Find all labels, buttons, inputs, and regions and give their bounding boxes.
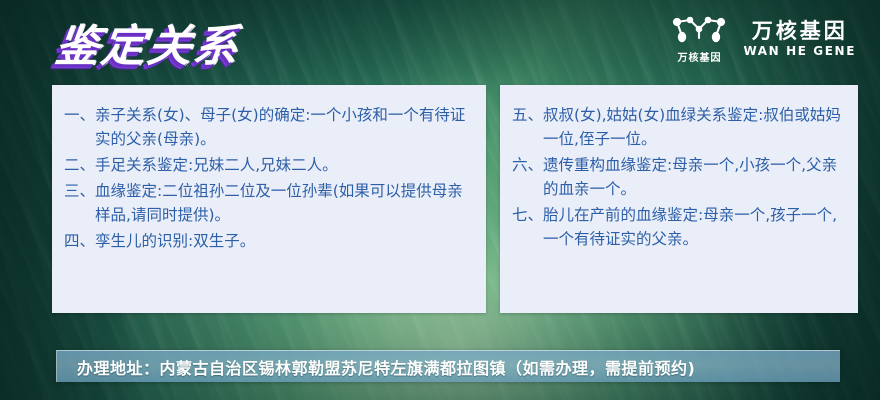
page-title: 鉴定关系 [52, 10, 244, 74]
slide-root: 鉴定关系 [0, 0, 880, 400]
list-item-number: 六、 [512, 153, 543, 177]
list-item-text: 遗传重构血缘鉴定:母亲一个,小孩一个,父亲的血亲一个。 [543, 153, 846, 201]
list-item: 三、 血缘鉴定:二位祖孙二位及一位孙辈(如果可以提供母亲样品,请同时提供)。 [64, 179, 474, 227]
list-item-number: 二、 [64, 153, 95, 177]
brand-name-block: 万核基因 WAN HE GENE [743, 19, 856, 59]
panel-left: 一、 亲子关系(女)、母子(女)的确定:一个小孩和一个有待证实的父亲(母亲)。 … [52, 85, 486, 313]
brand-name-cn: 万核基因 [752, 19, 848, 43]
list-item-text: 亲子关系(女)、母子(女)的确定:一个小孩和一个有待证实的父亲(母亲)。 [95, 103, 474, 151]
list-item-number: 四、 [64, 229, 95, 253]
list-item-text: 手足关系鉴定:兄妹二人,兄妹二人。 [95, 153, 474, 177]
list-item-number: 五、 [512, 103, 543, 127]
list-item-text: 胎儿在产前的血缘鉴定:母亲一个,孩子一个,一个有待证实的父亲。 [543, 203, 846, 251]
brand-mark: 万核基因 [669, 14, 729, 64]
list-item-number: 三、 [64, 179, 95, 203]
brand-mark-label: 万核基因 [677, 49, 721, 64]
brand-lockup: 万核基因 万核基因 WAN HE GENE [669, 14, 856, 64]
panel-right: 五、 叔叔(女),姑姑(女)血绿关系鉴定:叔伯或姑妈一位,侄子一位。 六、 遗传… [500, 85, 858, 313]
list-item-text: 孪生儿的识别:双生子。 [95, 229, 474, 253]
list-item-text: 血缘鉴定:二位祖孙二位及一位孙辈(如果可以提供母亲样品,请同时提供)。 [95, 179, 474, 227]
molecule-node-icon [669, 14, 729, 46]
list-item-number: 一、 [64, 103, 95, 127]
slide-header: 鉴定关系 [0, 0, 880, 86]
content-panels: 一、 亲子关系(女)、母子(女)的确定:一个小孩和一个有待证实的父亲(母亲)。 … [0, 85, 880, 315]
list-item-number: 七、 [512, 203, 543, 227]
list-item: 四、 孪生儿的识别:双生子。 [64, 229, 474, 253]
list-item-text: 叔叔(女),姑姑(女)血绿关系鉴定:叔伯或姑妈一位,侄子一位。 [543, 103, 846, 151]
address-bar: 办理地址：内蒙古自治区锡林郭勒盟苏尼特左旗满都拉图镇（如需办理，需提前预约) [56, 350, 840, 382]
brand-name-en: WAN HE GENE [743, 45, 856, 59]
list-item: 五、 叔叔(女),姑姑(女)血绿关系鉴定:叔伯或姑妈一位,侄子一位。 [512, 103, 846, 151]
list-item: 六、 遗传重构血缘鉴定:母亲一个,小孩一个,父亲的血亲一个。 [512, 153, 846, 201]
list-item: 一、 亲子关系(女)、母子(女)的确定:一个小孩和一个有待证实的父亲(母亲)。 [64, 103, 474, 151]
list-item: 七、 胎儿在产前的血缘鉴定:母亲一个,孩子一个,一个有待证实的父亲。 [512, 203, 846, 251]
list-item: 二、 手足关系鉴定:兄妹二人,兄妹二人。 [64, 153, 474, 177]
address-text: 办理地址：内蒙古自治区锡林郭勒盟苏尼特左旗满都拉图镇（如需办理，需提前预约) [77, 355, 695, 379]
